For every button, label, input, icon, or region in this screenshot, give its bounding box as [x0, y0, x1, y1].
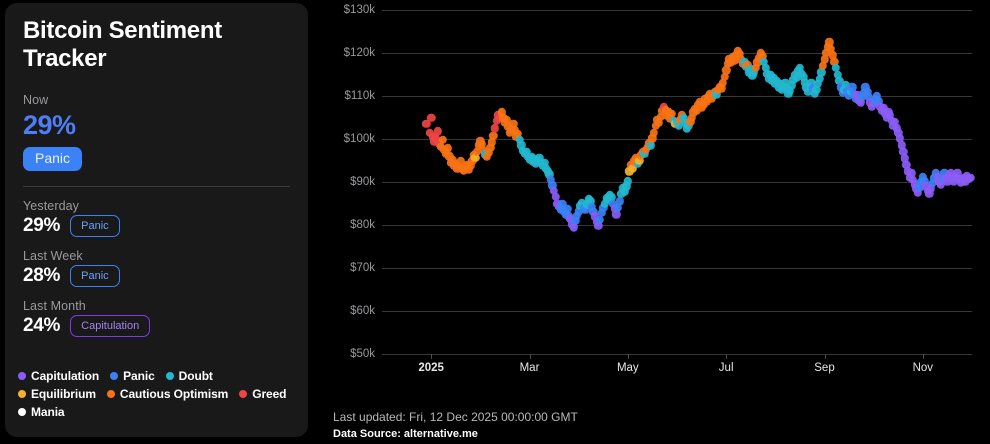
chart-gridline: [382, 96, 972, 97]
legend-swatch-icon: [239, 390, 247, 398]
chart-gridline: [382, 268, 972, 269]
legend-item-doubt[interactable]: Doubt: [166, 369, 213, 383]
chart-gridline: [382, 354, 972, 355]
now-status-badge: Panic: [23, 147, 82, 171]
now-value: 29%: [23, 111, 290, 139]
chart-x-axis-label: Sep: [814, 362, 834, 374]
chart-x-axis-label: May: [617, 362, 639, 374]
chart-x-axis-label: Mar: [520, 362, 540, 374]
legend-item-label: Greed: [252, 387, 286, 401]
legend-swatch-icon: [18, 390, 26, 398]
chart-y-axis-label: $120k: [344, 47, 375, 59]
chart-data-point[interactable]: [491, 124, 499, 132]
legend-item-mania[interactable]: Mania: [18, 405, 65, 419]
history-row-value: 28%: [23, 265, 60, 287]
history-row-label: Last Month: [23, 299, 290, 313]
chart-gridline: [382, 311, 972, 312]
history-status-badge: Capitulation: [70, 315, 150, 337]
legend-item-label: Mania: [31, 405, 65, 419]
chart-data-point[interactable]: [596, 216, 604, 224]
history-row-value: 24%: [23, 315, 60, 337]
chart-gridline: [382, 139, 972, 140]
history-row-line: 29%Panic: [23, 215, 290, 237]
chart-y-axis-label: $50k: [350, 348, 375, 360]
now-label: Now: [23, 93, 290, 107]
chart-footer: Last updated: Fri, 12 Dec 2025 00:00:00 …: [333, 410, 578, 440]
history-status-badge: Panic: [70, 265, 120, 287]
legend-swatch-icon: [18, 408, 26, 416]
legend-row: Mania: [18, 405, 293, 419]
chart-data-point[interactable]: [488, 138, 496, 146]
legend-row: EquilibriumCautious OptimismGreed: [18, 387, 293, 401]
chart-y-axis-label: $100k: [344, 133, 375, 145]
chart-y-axis-label: $80k: [350, 219, 375, 231]
chart-y-axis-label: $90k: [350, 176, 375, 188]
legend-row: CapitulationPanicDoubt: [18, 369, 293, 383]
chart-x-axis-label: Jul: [719, 362, 734, 374]
chart-gridline: [382, 182, 972, 183]
legend-item-panic[interactable]: Panic: [110, 369, 155, 383]
chart-gridline: [382, 225, 972, 226]
chart-data-point[interactable]: [647, 141, 655, 149]
chart-y-axis-label: $60k: [350, 305, 375, 317]
chart-plot-area: 2025MarMayJulSepNov $130k$120k$110k$100k…: [382, 10, 972, 354]
legend-swatch-icon: [18, 372, 26, 380]
history-row-value: 29%: [23, 215, 60, 237]
chart-gridline: [382, 10, 972, 11]
history-status-badge: Panic: [70, 215, 120, 237]
legend-item-equilibrium[interactable]: Equilibrium: [18, 387, 96, 401]
chart-data-point[interactable]: [434, 127, 442, 135]
chart-y-axis-label: $130k: [344, 4, 375, 16]
history-row-line: 28%Panic: [23, 265, 290, 287]
history-list: Yesterday29%PanicLast Week28%PanicLast M…: [23, 199, 290, 337]
data-source-text: Data Source: alternative.me: [333, 428, 578, 440]
legend-item-label: Equilibrium: [31, 387, 96, 401]
legend-item-label: Doubt: [179, 369, 213, 383]
history-row: Yesterday29%Panic: [23, 199, 290, 237]
legend-item-label: Cautious Optimism: [120, 387, 228, 401]
history-row: Last Month24%Capitulation: [23, 299, 290, 337]
chart-data-point[interactable]: [438, 136, 446, 144]
chart-x-axis-label: Nov: [913, 362, 933, 374]
chart-data-point[interactable]: [427, 113, 435, 121]
legend-item-label: Panic: [123, 369, 155, 383]
price-sentiment-chart: 2025MarMayJulSepNov $130k$120k$110k$100k…: [330, 0, 990, 444]
sentiment-tracker-app: Bitcoin Sentiment Tracker Now 29% Panic …: [0, 0, 990, 444]
page-title: Bitcoin Sentiment Tracker: [23, 17, 290, 73]
legend-item-cautious-optimism[interactable]: Cautious Optimism: [107, 387, 228, 401]
history-row-label: Last Week: [23, 249, 290, 263]
last-updated-text: Last updated: Fri, 12 Dec 2025 00:00:00 …: [333, 410, 578, 424]
history-row-label: Yesterday: [23, 199, 290, 213]
divider: [23, 186, 290, 187]
history-row: Last Week28%Panic: [23, 249, 290, 287]
chart-data-point[interactable]: [966, 173, 974, 181]
history-row-line: 24%Capitulation: [23, 315, 290, 337]
legend-swatch-icon: [107, 390, 115, 398]
chart-y-axis-label: $110k: [345, 90, 375, 102]
sentiment-legend: CapitulationPanicDoubtEquilibriumCautiou…: [18, 369, 293, 423]
chart-data-point[interactable]: [615, 197, 623, 205]
legend-item-capitulation[interactable]: Capitulation: [18, 369, 99, 383]
chart-y-axis-label: $70k: [350, 262, 375, 274]
chart-x-axis-label: 2025: [418, 362, 444, 374]
legend-item-label: Capitulation: [31, 369, 99, 383]
chart-gridline: [382, 53, 972, 54]
legend-swatch-icon: [110, 372, 118, 380]
legend-swatch-icon: [166, 372, 174, 380]
chart-data-point[interactable]: [624, 177, 632, 185]
legend-item-greed[interactable]: Greed: [239, 387, 286, 401]
